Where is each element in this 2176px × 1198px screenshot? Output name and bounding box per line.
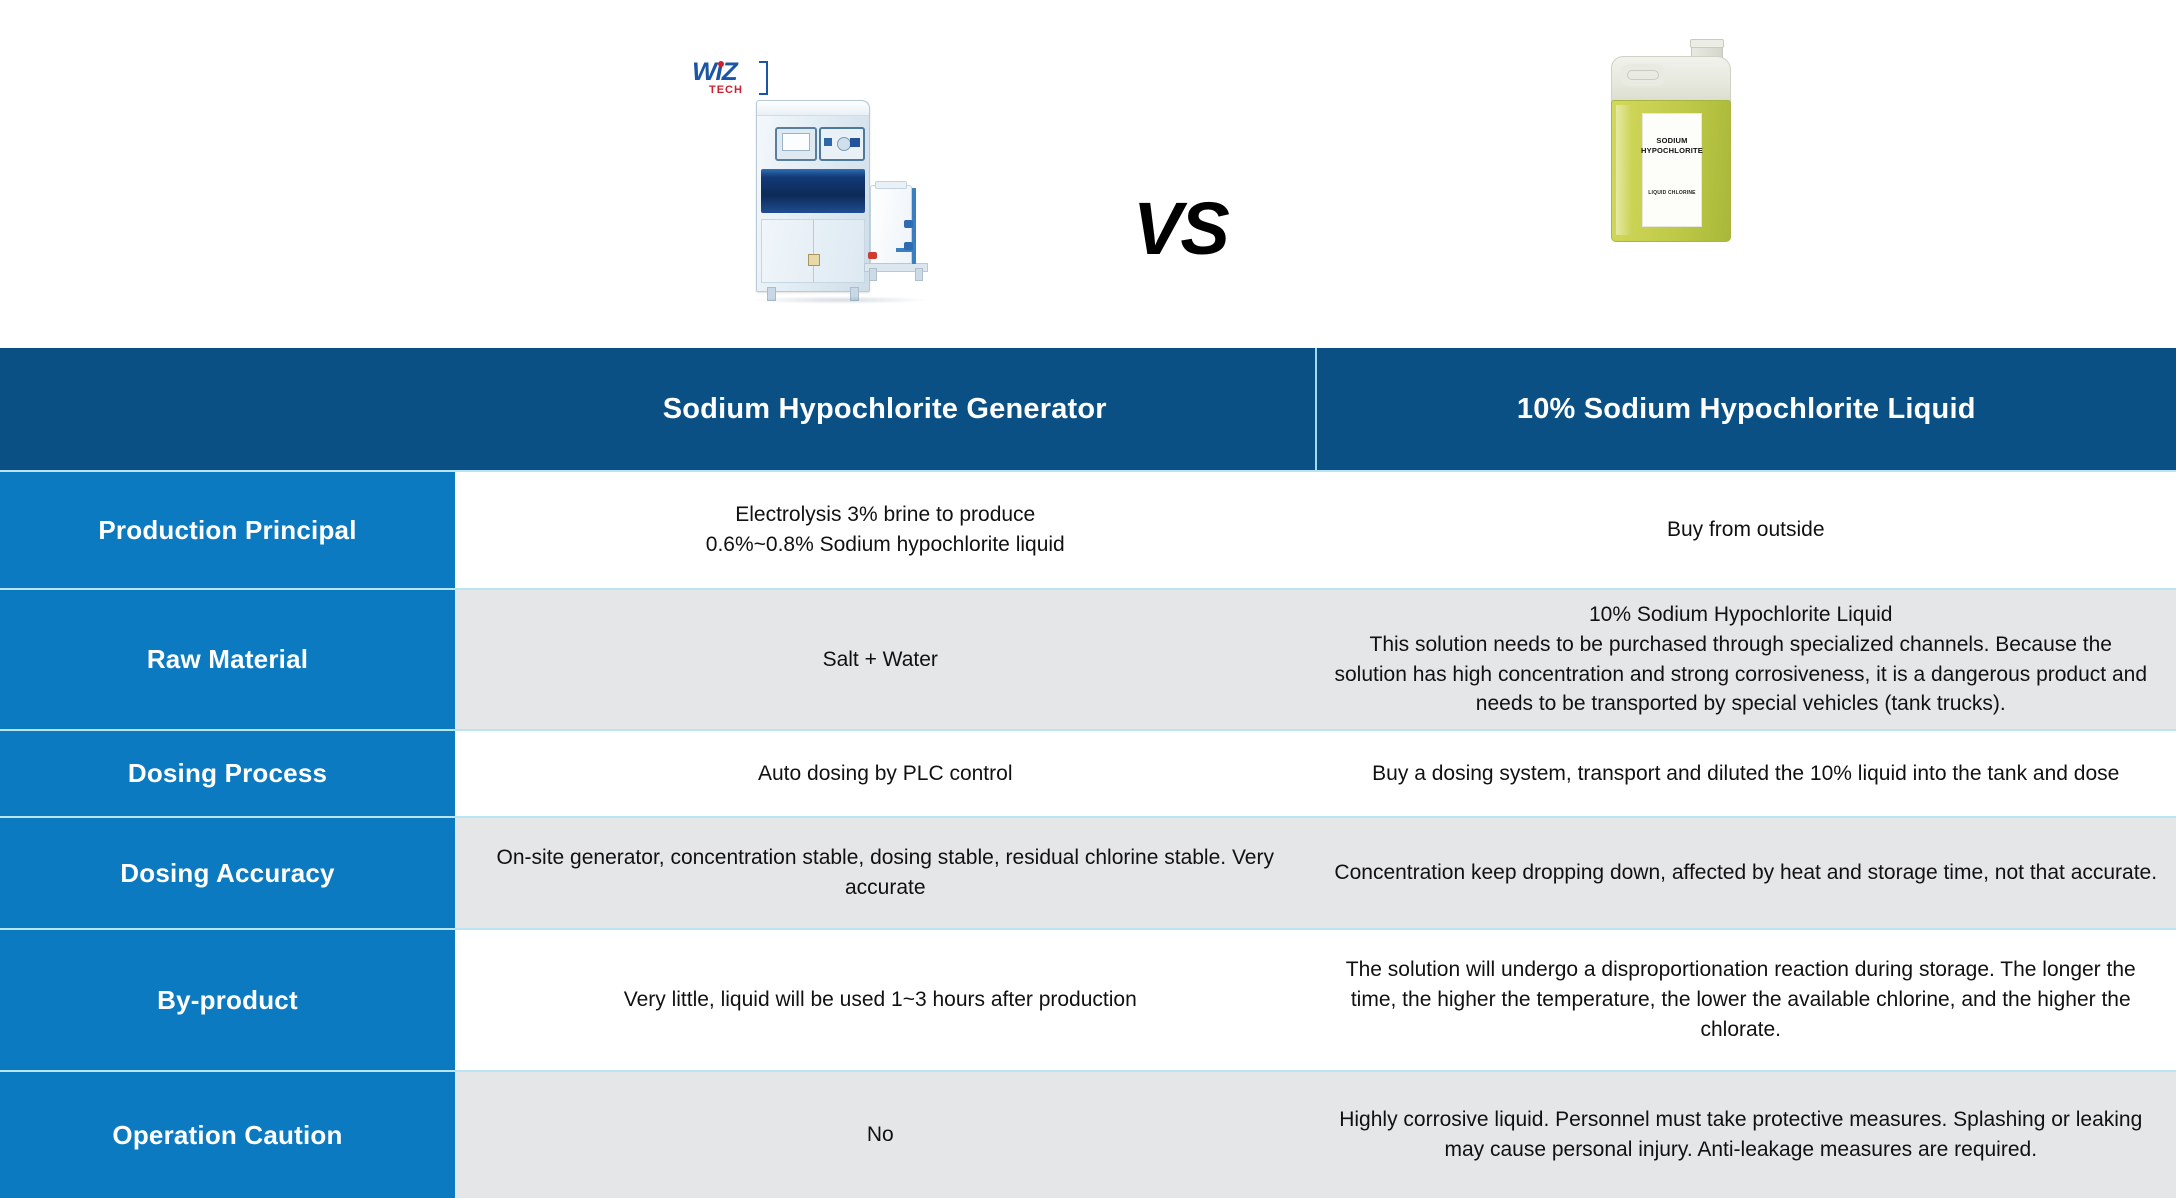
- table-row: Raw Material Salt + Water 10% Sodium Hyp…: [0, 588, 2176, 729]
- cell-generator-dosing-accuracy: On-site generator, concentration stable,…: [455, 818, 1316, 928]
- wiztech-logo: WiZ TECH: [692, 60, 770, 104]
- row-label-production-principal: Production Principal: [0, 472, 455, 588]
- control-panel-icon: [819, 127, 865, 161]
- row-label-operation-caution: Operation Caution: [0, 1072, 455, 1198]
- row-label-raw-material: Raw Material: [0, 590, 455, 729]
- versus-label: VS: [1133, 192, 1228, 266]
- jerrycan-label: SODIUM HYPOCHLORITE LIQUID CHLORINE: [1642, 113, 1702, 227]
- tank-cap-icon: [875, 181, 907, 189]
- cabinet-top: [757, 101, 869, 116]
- panel-knob-icon: [837, 137, 851, 151]
- row-label-by-product: By-product: [0, 930, 455, 1070]
- header-liquid: 10% Sodium Hypochlorite Liquid: [1315, 348, 2176, 470]
- cell-generator-operation-caution: No: [455, 1072, 1306, 1198]
- cabinet-window: [761, 169, 865, 213]
- table-row: Dosing Process Auto dosing by PLC contro…: [0, 729, 2176, 816]
- table-row: By-product Very little, liquid will be u…: [0, 928, 2176, 1070]
- table-row: Operation Caution No Highly corrosive li…: [0, 1070, 2176, 1198]
- tank-frame-leg-right: [915, 268, 923, 281]
- tank-frame: [864, 263, 928, 272]
- cell-liquid-operation-caution: Highly corrosive liquid. Personnel must …: [1306, 1072, 2176, 1198]
- comparison-table: Sodium Hypochlorite Generator 10% Sodium…: [0, 348, 2176, 1186]
- cell-generator-raw-material: Salt + Water: [455, 590, 1306, 729]
- hero-banner: WiZ TECH: [0, 0, 2176, 348]
- cell-generator-dosing-process: Auto dosing by PLC control: [455, 731, 1316, 816]
- tank-frame-leg-left: [869, 268, 877, 281]
- table-row: Dosing Accuracy On-site generator, conce…: [0, 816, 2176, 928]
- jerrycan-body: SODIUM HYPOCHLORITE LIQUID CHLORINE: [1611, 100, 1731, 242]
- table-row: Production Principal Electrolysis 3% bri…: [0, 470, 2176, 588]
- header-generator: Sodium Hypochlorite Generator: [455, 348, 1315, 470]
- cell-liquid-dosing-process: Buy a dosing system, transport and dilut…: [1316, 731, 2176, 816]
- header-blank-cell: [0, 348, 455, 470]
- liquid-product-image: SODIUM HYPOCHLORITE LIQUID CHLORINE: [1605, 42, 1745, 242]
- jerrycan-gloss: [1616, 105, 1632, 235]
- cell-generator-by-product: Very little, liquid will be used 1~3 hou…: [455, 930, 1306, 1070]
- cell-liquid-by-product: The solution will undergo a disproportio…: [1306, 930, 2176, 1070]
- cell-liquid-raw-material: 10% Sodium Hypochlorite Liquid This solu…: [1306, 590, 2176, 729]
- row-label-dosing-accuracy: Dosing Accuracy: [0, 818, 455, 928]
- table-header-row: Sodium Hypochlorite Generator 10% Sodium…: [0, 348, 2176, 470]
- cell-liquid-production-principal: Buy from outside: [1316, 472, 2176, 588]
- jerrycan-label-title: SODIUM HYPOCHLORITE: [1641, 136, 1703, 156]
- jerrycan-label-subtitle: LIQUID CHLORINE: [1648, 190, 1695, 196]
- generator-product-image: WiZ TECH: [690, 60, 960, 340]
- logo-bracket-icon: [759, 61, 768, 95]
- door-handle-icon: [808, 254, 820, 266]
- cell-generator-production-principal: Electrolysis 3% brine to produce 0.6%~0.…: [455, 472, 1316, 588]
- panel-display-icon: [850, 138, 860, 147]
- cabinet-doors: [761, 219, 865, 283]
- row-label-dosing-process: Dosing Process: [0, 731, 455, 816]
- product-shadow: [750, 296, 930, 304]
- valve-red-icon: [868, 252, 877, 259]
- panel-led-icon: [824, 138, 832, 146]
- generator-cabinet: [756, 100, 870, 292]
- logo-subtext: TECH: [709, 85, 743, 96]
- valve-blue-lower-icon: [904, 242, 913, 250]
- logo-dot-icon: [718, 61, 724, 67]
- cell-liquid-dosing-accuracy: Concentration keep dropping down, affect…: [1316, 818, 2176, 928]
- hmi-screen-icon: [775, 127, 817, 161]
- jerrycan-handle-icon: [1621, 64, 1665, 86]
- valve-blue-upper-icon: [904, 220, 913, 228]
- hero-stage: WiZ TECH: [0, 0, 2176, 348]
